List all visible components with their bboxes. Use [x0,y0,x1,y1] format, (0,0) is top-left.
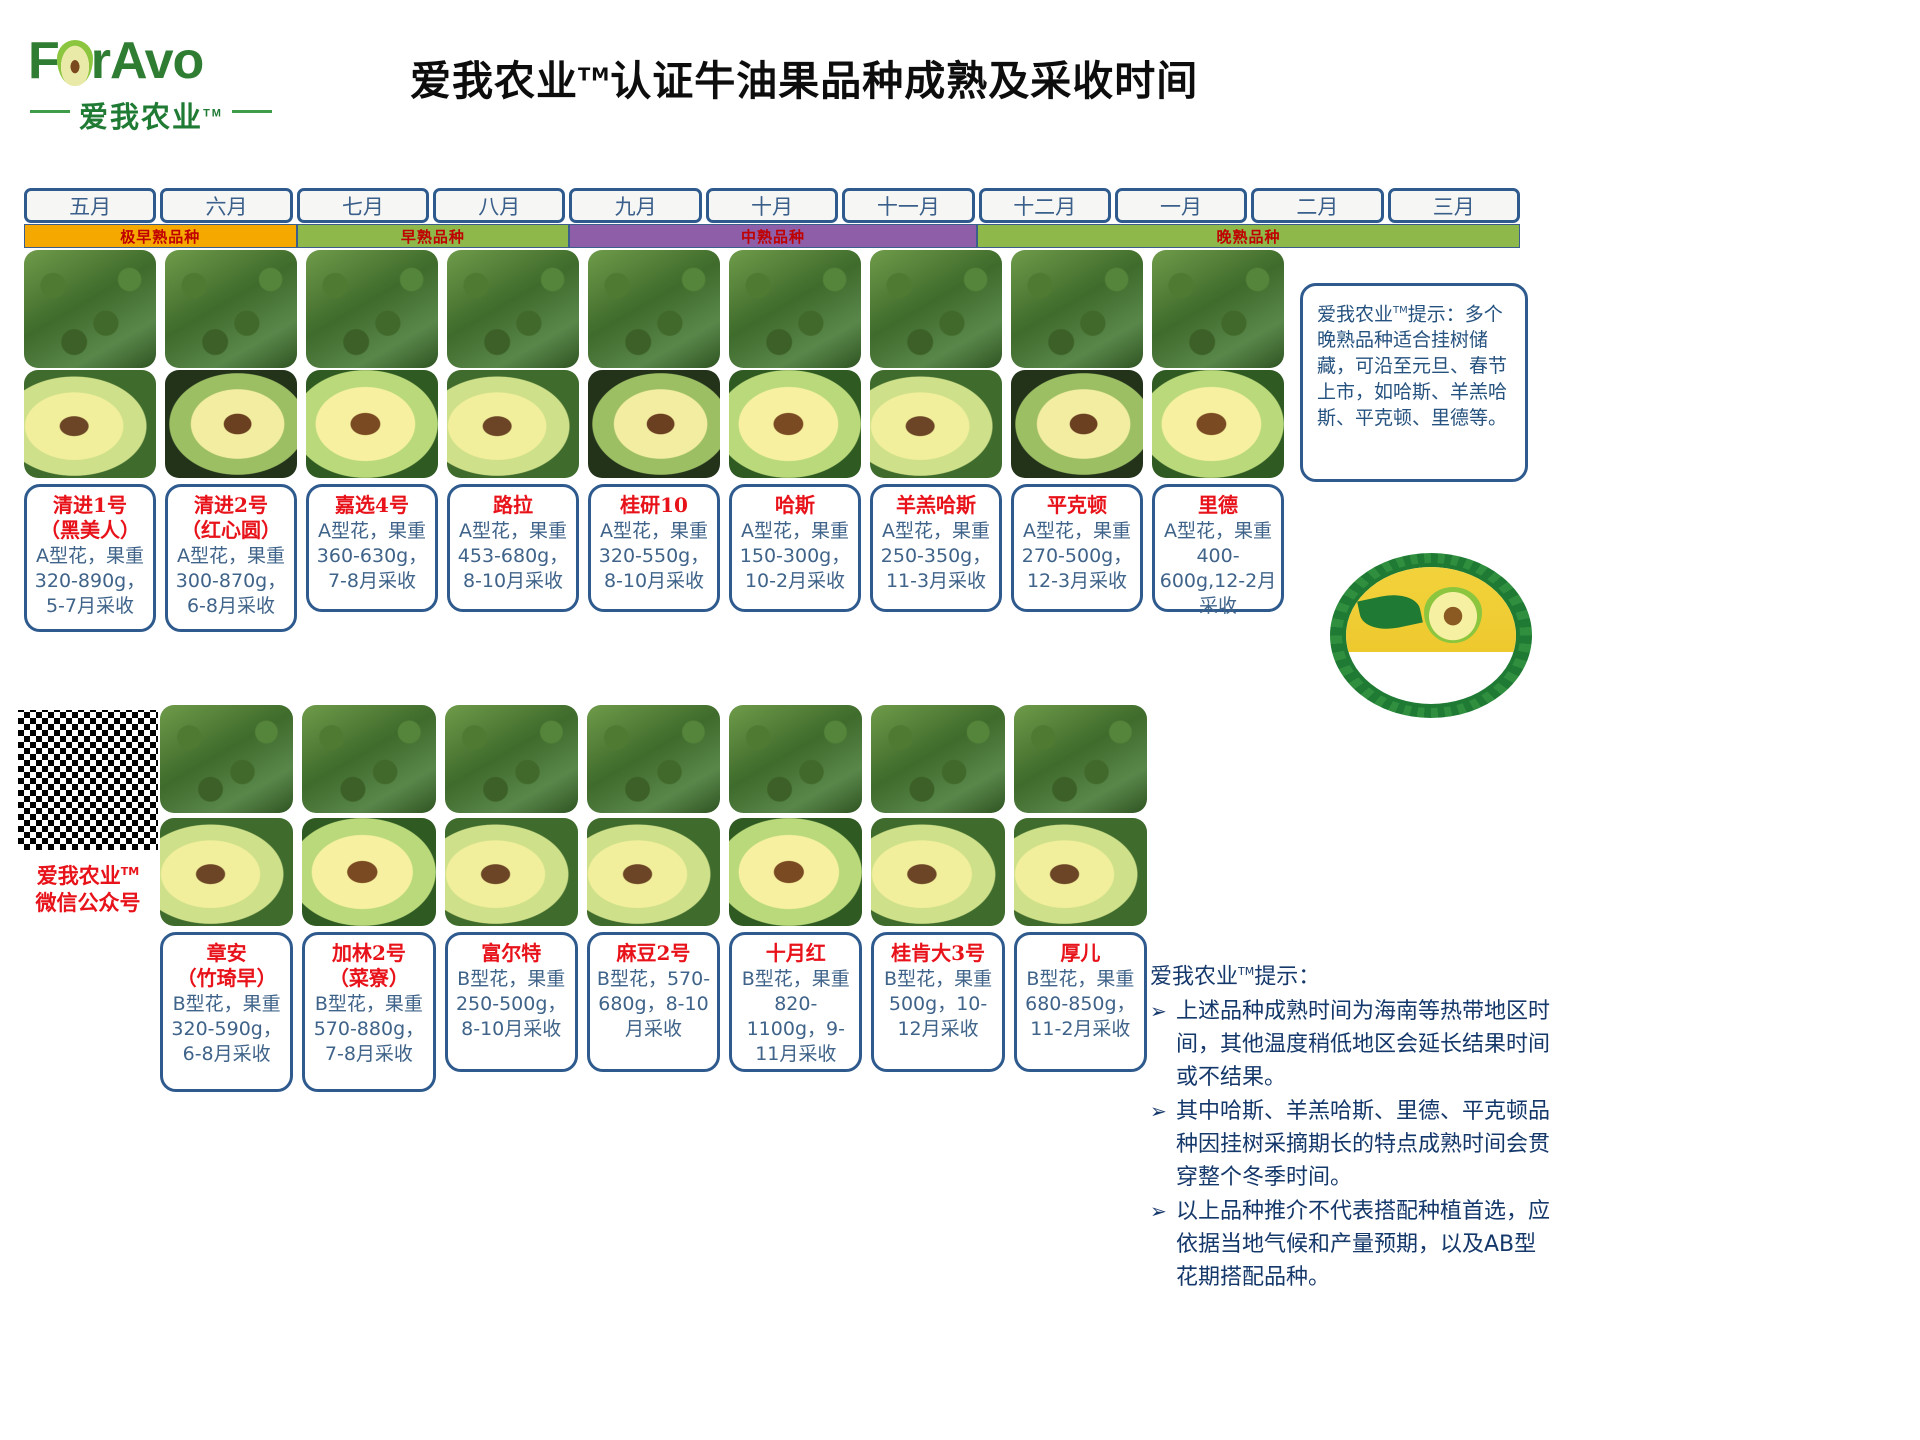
variety-name: 桂研10 [595,493,713,518]
variety-description: B型花，果重820-1100g，9-11月采收 [736,967,855,1067]
arrow-bullet-icon: ➢ [1150,1095,1176,1194]
variety-name: 路拉 [454,493,572,518]
tip-head: 爱我农业 [1317,303,1393,325]
brand-logo: FrAvo 爱我农业TM [26,32,276,142]
variety-name: 哈斯 [736,493,854,518]
variety-fruit-photo [729,818,862,926]
variety-tree-photo [587,705,720,813]
note-item: ➢其中哈斯、羊羔哈斯、里德、平克顿品种因挂树采摘期长的特点成熟时间会贯穿整个冬季… [1150,1095,1550,1194]
variety-fruit-photo [165,370,297,478]
variety-fruit-photo [1011,370,1143,478]
variety-description: B型花，果重250-500g，8-10月采收 [452,967,571,1042]
variety-name: 里德 [1159,493,1277,518]
variety-card[interactable]: 十月红B型花，果重820-1100g，9-11月采收 [729,932,862,1072]
variety-description: A型花，果重270-500g，12-3月采收 [1018,519,1136,594]
variety-tree-photo [588,250,720,368]
variety-name: 麻豆2号 [594,941,713,966]
variety-description: A型花，果重320-890g，5-7月采收 [31,544,149,619]
variety-name: 平克顿 [1018,493,1136,518]
variety-name: 十月红 [736,941,855,966]
variety-tree-photo [24,250,156,368]
variety-tree-photo [729,705,862,813]
logo-letters-ravo: rAvo [91,32,204,90]
qr-caption: 爱我农业TM 微信公众号 [18,858,158,917]
variety-tree-photo [729,250,861,368]
variety-name: 清进2号 [172,493,290,518]
variety-alias: （黑美人） [31,518,149,543]
variety-tree-photo [1152,250,1284,368]
month-cell-6: 十月 [706,188,838,223]
variety-tree-photo [306,250,438,368]
variety-fruit-photo [160,818,293,926]
variety-description: A型花，果重360-630g，7-8月采收 [313,519,431,594]
month-cell-10: 二月 [1251,188,1383,223]
note-item: ➢上述品种成熟时间为海南等热带地区时间，其他温度稍低地区会延长结果时间或不结果。 [1150,995,1550,1094]
variety-card[interactable]: 清进1号（黑美人）A型花，果重320-890g，5-7月采收 [24,484,156,632]
variety-tree-photo [871,705,1004,813]
notes-heading: 爱我农业TM提示： [1150,955,1550,993]
variety-card[interactable]: 章安（竹琦早）B型花，果重320-590g，6-8月采收 [160,932,293,1092]
season-band-4: 晚熟品种 [977,224,1520,248]
month-cell-8: 十二月 [979,188,1111,223]
variety-fruit-photo [306,370,438,478]
title-tm-mark: TM [578,64,610,85]
season-band-row: 极早熟品种早熟品种中熟品种晚熟品种 [24,224,1520,246]
variety-name: 羊羔哈斯 [877,493,995,518]
avocado-icon [57,40,93,86]
arrow-bullet-icon: ➢ [1150,995,1176,1094]
variety-description: A型花，果重453-680g，8-10月采收 [454,519,572,594]
month-cell-4: 八月 [433,188,565,223]
page-header: FrAvo 爱我农业TM 爱我农业TM认证牛油果品种成熟及采收时间 [0,0,1920,175]
qr-tm-mark: TM [121,865,139,878]
seal-inner: ForAvo 爱我农业 [1342,563,1520,708]
variety-fruit-photo [871,818,1004,926]
variety-fruit-photo [729,370,861,478]
variety-description: A型花，果重150-300g，10-2月采收 [736,519,854,594]
variety-card[interactable]: 哈斯A型花，果重150-300g，10-2月采收 [729,484,861,612]
certification-seal: ForAvo 爱我农业 [1330,553,1532,718]
variety-name: 加林2号 [309,941,428,966]
wechat-qr-block: 爱我农业TM 微信公众号 [18,710,158,940]
arrow-bullet-icon: ➢ [1150,1195,1176,1294]
season-band-1: 极早熟品种 [24,224,297,248]
variety-fruit-photo [587,818,720,926]
variety-card[interactable]: 桂肯大3号B型花，果重500g，10-12月采收 [871,932,1004,1072]
variety-card[interactable]: 厚儿B型花，果重680-850g，11-2月采收 [1014,932,1147,1072]
variety-tree-photo [302,705,435,813]
variety-description: A型花，果重250-350g，11-3月采收 [877,519,995,594]
variety-fruit-photo [870,370,1002,478]
variety-card[interactable]: 加林2号（菜寮）B型花，果重570-880g，7-8月采收 [302,932,435,1092]
tip-head-suffix: 提示： [1408,303,1465,325]
variety-name: 章安 [167,941,286,966]
variety-card[interactable]: 嘉选4号A型花，果重360-630g，7-8月采收 [306,484,438,612]
season-band-2: 早熟品种 [297,224,570,248]
tip-box-top-right: 爱我农业TM提示：多个晚熟品种适合挂树储藏，可沿至元旦、春节上市，如哈斯、羊羔哈… [1300,283,1528,482]
month-cell-3: 七月 [297,188,429,223]
month-cell-9: 一月 [1115,188,1247,223]
month-cell-1: 五月 [24,188,156,223]
variety-name: 清进1号 [31,493,149,518]
variety-fruit-photo [445,818,578,926]
variety-tree-photo [1011,250,1143,368]
variety-card[interactable]: 路拉A型花，果重453-680g，8-10月采收 [447,484,579,612]
month-cell-5: 九月 [569,188,701,223]
variety-tree-photo [447,250,579,368]
month-cell-7: 十一月 [842,188,974,223]
variety-card[interactable]: 麻豆2号B型花，570-680g，8-10月采收 [587,932,720,1072]
variety-fruit-photo [302,818,435,926]
logo-letter-f: F [28,32,59,90]
variety-description: B型花，果重320-590g，6-8月采收 [167,992,286,1067]
variety-alias: （红心圆） [172,518,290,543]
variety-name: 嘉选4号 [313,493,431,518]
variety-card[interactable]: 平克顿A型花，果重270-500g，12-3月采收 [1011,484,1143,612]
variety-name: 厚儿 [1021,941,1140,966]
variety-description: A型花，果重400-600g,12-2月采收 [1159,519,1277,619]
variety-fruit-photo [588,370,720,478]
variety-alias: （菜寮） [309,966,428,991]
variety-name: 富尔特 [452,941,571,966]
note-item: ➢以上品种推介不代表搭配种植首选，应依据当地气候和产量预期，以及AB型花期搭配品… [1150,1195,1550,1294]
month-cell-11: 三月 [1388,188,1520,223]
variety-tree-photo [1014,705,1147,813]
variety-fruit-photo [1014,818,1147,926]
variety-description: A型花，果重300-870g，6-8月采收 [172,544,290,619]
month-timeline: 五月六月七月八月九月十月十一月十二月一月二月三月 [24,188,1520,223]
variety-tree-photo [165,250,297,368]
variety-description: B型花，果重680-850g，11-2月采收 [1021,967,1140,1042]
seal-brand-name: ForAvo [1346,653,1516,679]
logo-wordmark: FrAvo [26,32,276,90]
seal-brand-cn: 爱我农业 [1346,677,1516,697]
variety-card[interactable]: 富尔特B型花，果重250-500g，8-10月采收 [445,932,578,1072]
variety-name: 桂肯大3号 [878,941,997,966]
note-text: 以上品种推介不代表搭配种植首选，应依据当地气候和产量预期，以及AB型花期搭配品种… [1176,1195,1550,1294]
variety-fruit-photo [447,370,579,478]
bottom-notes: 爱我农业TM提示： ➢上述品种成熟时间为海南等热带地区时间，其他温度稍低地区会延… [1150,955,1550,1294]
variety-tree-photo [160,705,293,813]
tip-tm-mark: TM [1393,305,1408,316]
qr-code-image[interactable] [18,710,158,850]
variety-description: B型花，570-680g，8-10月采收 [594,967,713,1042]
variety-card[interactable]: 清进2号（红心圆）A型花，果重300-870g，6-8月采收 [165,484,297,632]
variety-tree-photo [870,250,1002,368]
variety-card[interactable]: 里德A型花，果重400-600g,12-2月采收 [1152,484,1284,612]
season-band-3: 中熟品种 [569,224,977,248]
variety-description: B型花，果重500g，10-12月采收 [878,967,997,1042]
variety-fruit-photo [24,370,156,478]
variety-card[interactable]: 羊羔哈斯A型花，果重250-350g，11-3月采收 [870,484,1002,612]
note-text: 其中哈斯、羊羔哈斯、里德、平克顿品种因挂树采摘期长的特点成熟时间会贯穿整个冬季时… [1176,1095,1550,1194]
month-cell-2: 六月 [160,188,292,223]
variety-card[interactable]: 桂研10A型花，果重320-550g，8-10月采收 [588,484,720,612]
variety-tree-photo [445,705,578,813]
logo-chinese-name: 爱我农业TM [26,94,276,136]
note-text: 上述品种成熟时间为海南等热带地区时间，其他温度稍低地区会延长结果时间或不结果。 [1176,995,1550,1094]
logo-tm-mark: TM [203,107,223,119]
variety-description: B型花，果重570-880g，7-8月采收 [309,992,428,1067]
notes-tm-mark: TM [1238,965,1254,978]
variety-fruit-photo [1152,370,1284,478]
variety-alias: （竹琦早） [167,966,286,991]
page-title: 爱我农业TM认证牛油果品种成熟及采收时间 [410,47,1270,107]
variety-description: A型花，果重320-550g，8-10月采收 [595,519,713,594]
